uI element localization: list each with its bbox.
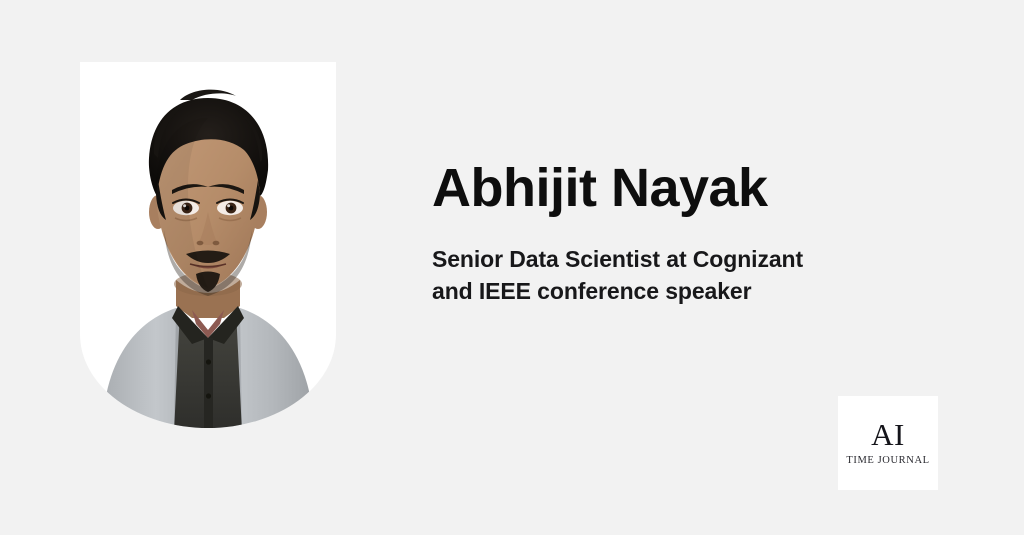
speaker-banner: Abhijit Nayak Senior Data Scientist at C… xyxy=(0,0,1024,535)
speaker-text-block: Abhijit Nayak Senior Data Scientist at C… xyxy=(432,160,932,308)
speaker-portrait xyxy=(80,62,336,432)
speaker-title-line-2: and IEEE conference speaker xyxy=(432,275,932,308)
portrait-illustration xyxy=(80,62,336,432)
speaker-title: Senior Data Scientist at Cognizant and I… xyxy=(432,243,932,308)
logo-mark-text: AI xyxy=(871,419,905,450)
speaker-title-line-1: Senior Data Scientist at Cognizant xyxy=(432,243,932,276)
speaker-name: Abhijit Nayak xyxy=(432,160,932,217)
logo-wordmark-text: TIME JOURNAL xyxy=(846,456,929,467)
ai-time-journal-logo: AI TIME JOURNAL xyxy=(838,396,938,490)
